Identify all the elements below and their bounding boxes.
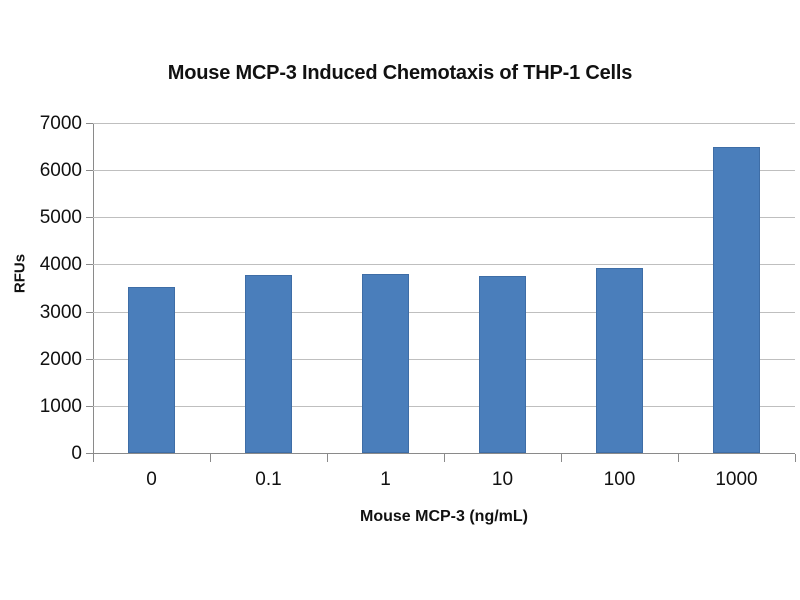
y-axis-tick bbox=[86, 406, 93, 407]
y-axis-tick-label: 6000 bbox=[16, 161, 82, 180]
x-axis-tick-label: 0 bbox=[93, 469, 210, 491]
bars bbox=[93, 123, 795, 453]
bar-0.1 bbox=[245, 275, 292, 453]
x-axis-tick-label: 10 bbox=[444, 469, 561, 491]
y-axis-tick-label: 7000 bbox=[16, 114, 82, 133]
bar-100 bbox=[596, 268, 643, 453]
y-axis-tick-label: 3000 bbox=[16, 303, 82, 322]
bar-10 bbox=[479, 276, 526, 453]
x-axis-tick bbox=[444, 454, 445, 462]
x-axis-tick bbox=[93, 454, 94, 462]
y-axis-tick bbox=[86, 170, 93, 171]
bar-0 bbox=[128, 287, 175, 453]
x-axis-tick-label: 0.1 bbox=[210, 469, 327, 491]
x-axis-tick bbox=[210, 454, 211, 462]
bar-1 bbox=[362, 274, 409, 453]
x-axis-tick-label: 1 bbox=[327, 469, 444, 491]
x-axis-tick-label: 100 bbox=[561, 469, 678, 491]
y-axis-tick-labels: 01000200030004000500060007000 bbox=[10, 0, 82, 600]
y-axis-tick bbox=[86, 264, 93, 265]
y-axis-tick bbox=[86, 312, 93, 313]
bar-1000 bbox=[713, 147, 760, 453]
y-axis-tick-label: 2000 bbox=[16, 350, 82, 369]
y-axis-tick-label: 4000 bbox=[16, 255, 82, 274]
x-axis-tick bbox=[327, 454, 328, 462]
y-axis-tick bbox=[86, 359, 93, 360]
plot-area bbox=[93, 123, 795, 453]
x-axis-title: Mouse MCP-3 (ng/mL) bbox=[93, 508, 795, 526]
y-axis-tick-label: 0 bbox=[16, 444, 82, 463]
y-axis-tick-label: 1000 bbox=[16, 397, 82, 416]
y-axis-tick bbox=[86, 123, 93, 124]
x-axis-tick bbox=[561, 454, 562, 462]
y-axis-tick bbox=[86, 217, 93, 218]
y-axis-tick-label: 5000 bbox=[16, 208, 82, 227]
chart-title: Mouse MCP-3 Induced Chemotaxis of THP-1 … bbox=[0, 62, 800, 85]
x-axis-tick-label: 1000 bbox=[678, 469, 795, 491]
y-axis-tick bbox=[86, 453, 93, 454]
x-axis-tick bbox=[678, 454, 679, 462]
bar-chart: Mouse MCP-3 Induced Chemotaxis of THP-1 … bbox=[0, 0, 800, 600]
x-axis-tick bbox=[795, 454, 796, 462]
